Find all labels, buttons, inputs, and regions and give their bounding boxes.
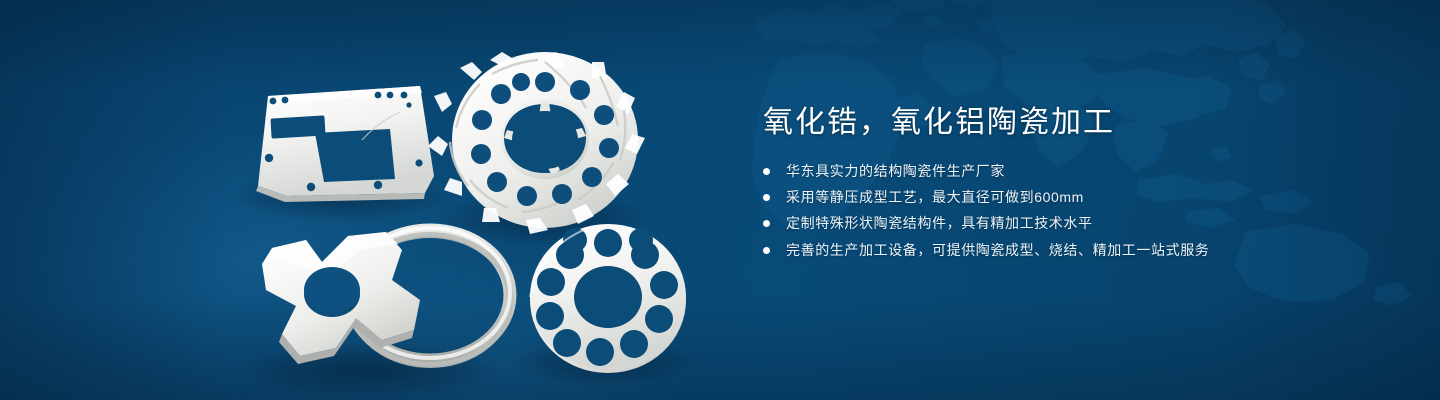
bullet-dot-icon bbox=[763, 194, 770, 201]
list-item-label: 采用等静压成型工艺，最大直径可做到600mm bbox=[786, 190, 1084, 205]
list-item: 定制特殊形状陶瓷结构件，具有精加工技术水平 bbox=[763, 216, 1323, 231]
list-item-label: 完善的生产加工设备，可提供陶瓷成型、烧结、精加工一站式服务 bbox=[786, 243, 1209, 258]
page-title: 氧化锆，氧化铝陶瓷加工 bbox=[763, 104, 1323, 142]
list-item: 华东具实力的结构陶瓷件生产厂家 bbox=[763, 164, 1323, 179]
bullet-dot-icon bbox=[763, 168, 770, 175]
feature-list: 华东具实力的结构陶瓷件生产厂家 采用等静压成型工艺，最大直径可做到600mm 定… bbox=[763, 164, 1323, 259]
list-item-label: 定制特殊形状陶瓷结构件，具有精加工技术水平 bbox=[786, 216, 1093, 231]
list-item-label: 华东具实力的结构陶瓷件生产厂家 bbox=[786, 164, 1005, 179]
bullet-dot-icon bbox=[763, 247, 770, 254]
list-item: 采用等静压成型工艺，最大直径可做到600mm bbox=[763, 190, 1323, 205]
list-item: 完善的生产加工设备，可提供陶瓷成型、烧结、精加工一站式服务 bbox=[763, 243, 1323, 258]
bullet-dot-icon bbox=[763, 220, 770, 227]
banner-copy: 氧化锆，氧化铝陶瓷加工 华东具实力的结构陶瓷件生产厂家 采用等静压成型工艺，最大… bbox=[763, 104, 1323, 258]
promo-banner: 氧化锆，氧化铝陶瓷加工 华东具实力的结构陶瓷件生产厂家 采用等静压成型工艺，最大… bbox=[0, 0, 1440, 400]
